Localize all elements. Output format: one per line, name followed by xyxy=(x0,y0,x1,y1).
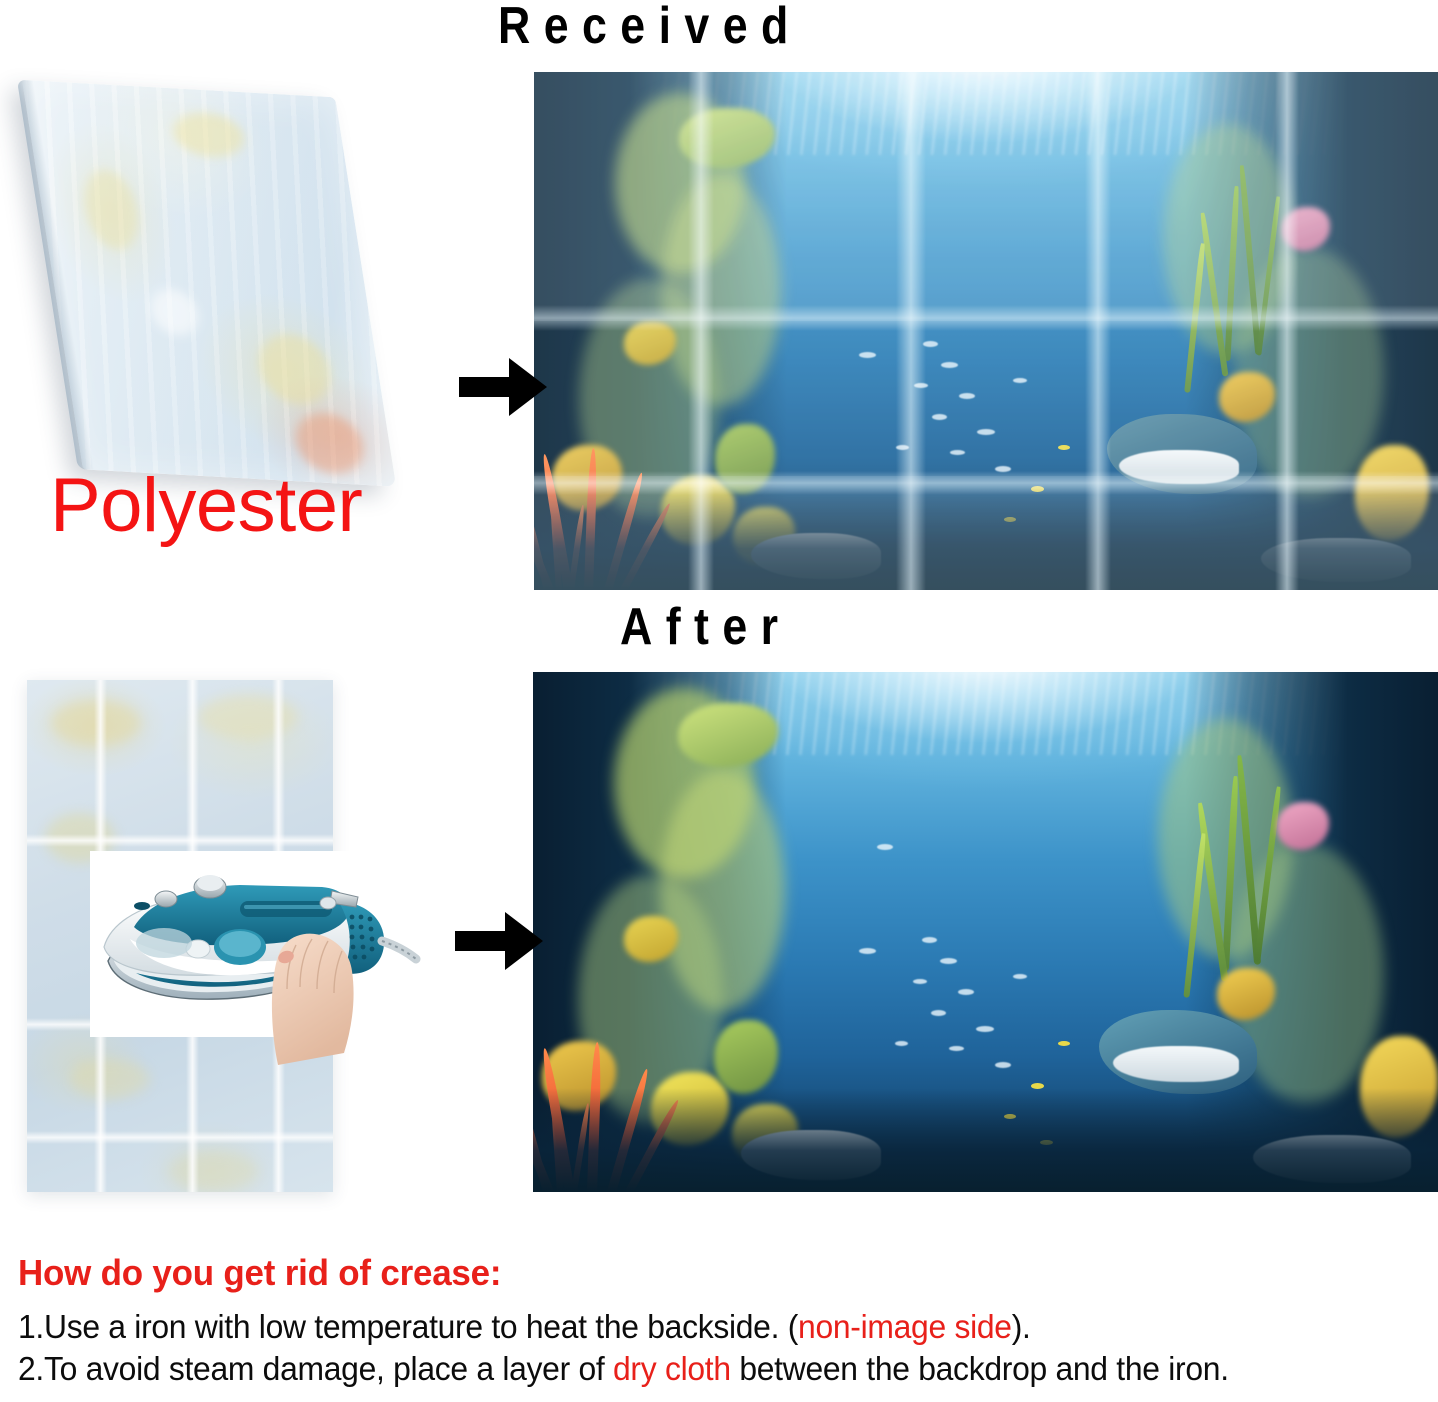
instructions-block: How do you get rid of crease: 1.Use a ir… xyxy=(18,1254,1428,1390)
fabric-print-bleed xyxy=(254,332,336,406)
fabric-print-bleed xyxy=(79,168,144,251)
fish xyxy=(976,1026,994,1032)
steam-iron-illustration xyxy=(90,851,390,1037)
step-highlight: dry cloth xyxy=(613,1350,731,1387)
arrow-right-icon xyxy=(455,912,543,970)
step-number: 2. xyxy=(18,1350,44,1387)
print-bleed xyxy=(168,1151,258,1191)
instructions-heading: How do you get rid of crease: xyxy=(18,1254,1386,1292)
after-backdrop-image xyxy=(533,672,1438,1192)
fabric-print-bleed xyxy=(170,111,248,159)
iron-photo-card xyxy=(90,851,390,1037)
crease-panel xyxy=(534,72,1438,321)
fish xyxy=(877,844,893,850)
step-number: 1. xyxy=(18,1308,44,1345)
received-section-title: Received xyxy=(498,0,802,56)
fish xyxy=(859,948,876,954)
fish xyxy=(1013,974,1027,979)
fish xyxy=(995,1062,1011,1068)
poster-canvas: Received Polyester xyxy=(0,0,1438,1402)
instruction-step-2: 2.To avoid steam damage, place a layer o… xyxy=(18,1348,1379,1390)
step-text-tail: ). xyxy=(1012,1308,1031,1345)
horizontal-crease xyxy=(27,834,333,847)
received-fabric-photo xyxy=(4,72,444,492)
fabric-highlight xyxy=(148,288,202,336)
step-text-tail: between the backdrop and the iron. xyxy=(731,1350,1229,1387)
step-highlight: non-image side xyxy=(798,1308,1012,1345)
instruction-step-1: 1.Use a iron with low temperature to hea… xyxy=(18,1306,1379,1348)
step-text: Use a iron with low temperature to heat … xyxy=(44,1308,798,1345)
arrow-right-icon xyxy=(459,358,547,416)
folded-polyester-sheet xyxy=(22,80,396,487)
horizontal-crease xyxy=(534,471,1438,495)
fish xyxy=(913,979,927,984)
step-text: To avoid steam damage, place a layer of xyxy=(44,1350,613,1387)
polyester-material-label: Polyester xyxy=(50,462,362,549)
horizontal-crease xyxy=(534,305,1438,331)
print-bleed xyxy=(70,1059,150,1099)
received-backdrop-image xyxy=(534,72,1438,590)
seabed-shadow xyxy=(533,1088,1438,1192)
horizontal-crease xyxy=(27,1131,333,1144)
after-section-title: After xyxy=(620,597,791,657)
